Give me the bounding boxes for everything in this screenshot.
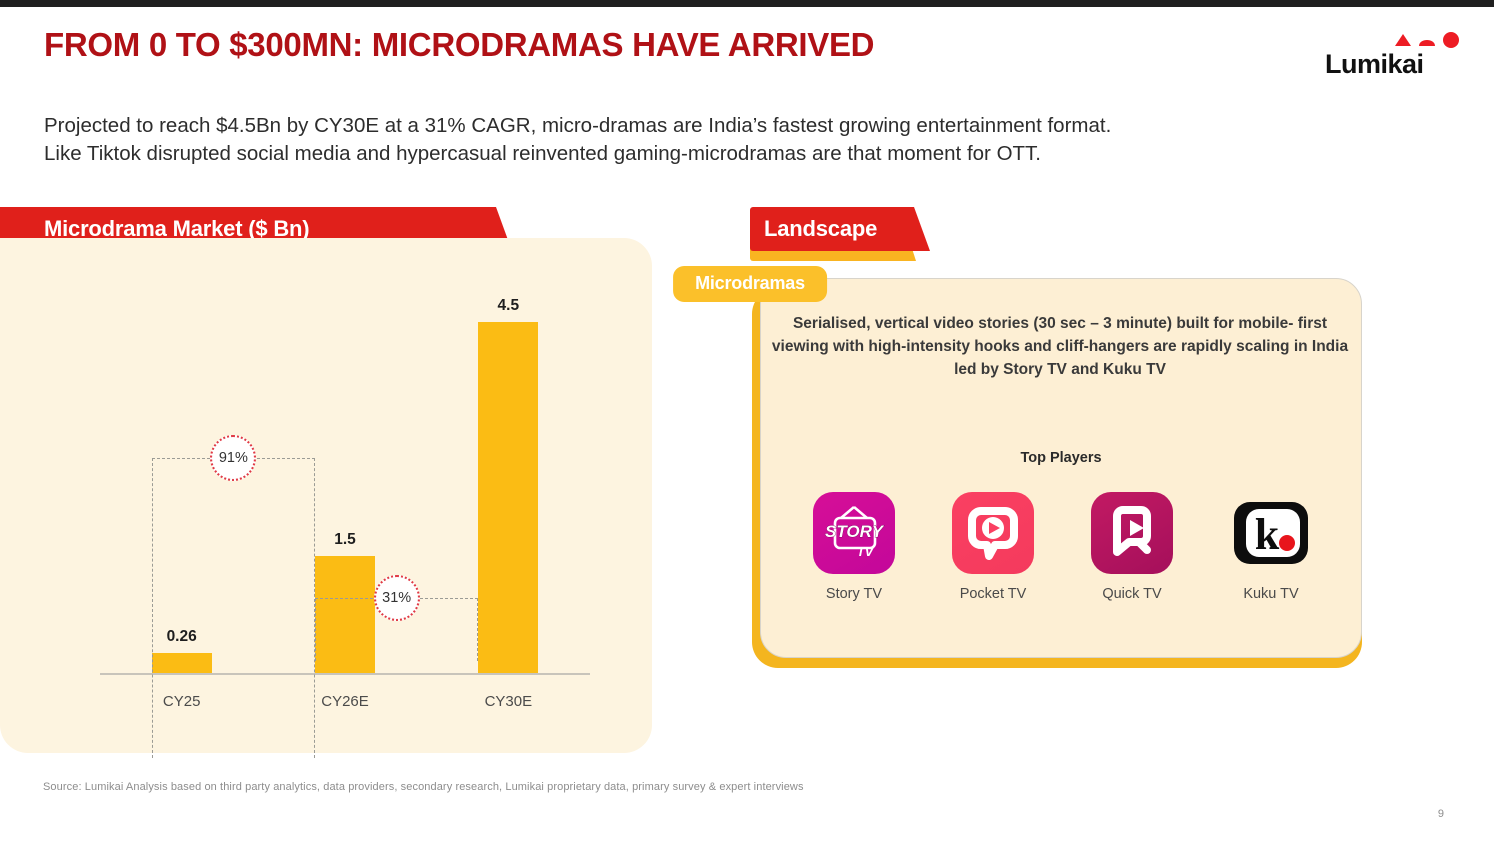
chart-bar-value-label: 4.5 xyxy=(463,297,553,315)
subtitle-line-2: Like Tiktok disrupted social media and h… xyxy=(44,140,1354,168)
kuku-tv-app-icon[interactable]: k xyxy=(1230,492,1312,574)
player-item[interactable]: Pocket TV xyxy=(929,492,1057,602)
svg-text:k: k xyxy=(1255,510,1280,559)
player-name-label: Pocket TV xyxy=(929,586,1057,602)
top-players-heading: Top Players xyxy=(760,450,1362,466)
subtitle-line-1: Projected to reach $4.5Bn by CY30E at a … xyxy=(44,112,1354,140)
banner-body: Landscape xyxy=(750,207,930,251)
player-item[interactable]: Quick TV xyxy=(1068,492,1196,602)
cagr-bracket xyxy=(152,458,315,758)
page-title: FROM 0 TO $300MN: MICRODRAMAS HAVE ARRIV… xyxy=(44,26,874,64)
market-chart-card: 0.26CY251.5CY26E4.5CY30E91%31% xyxy=(0,238,652,753)
chart-bar xyxy=(478,322,538,673)
lumikai-logo: Lumikai xyxy=(1325,28,1460,80)
quick-tv-app-icon[interactable] xyxy=(1091,492,1173,574)
top-players-row: STORYTVStory TVPocket TVQuick TVkKuku TV xyxy=(790,492,1335,602)
landscape-description: Serialised, vertical video stories (30 s… xyxy=(770,312,1350,381)
landscape-banner-label: Landscape xyxy=(764,216,877,242)
chart-x-tick-label: CY30E xyxy=(458,693,558,710)
story-tv-app-icon[interactable]: STORYTV xyxy=(813,492,895,574)
player-name-label: Quick TV xyxy=(1068,586,1196,602)
source-note: Source: Lumikai Analysis based on third … xyxy=(43,781,804,793)
cagr-value-bubble: 31% xyxy=(374,575,420,621)
player-name-label: Story TV xyxy=(790,586,918,602)
page-subtitle: Projected to reach $4.5Bn by CY30E at a … xyxy=(44,112,1354,168)
player-item[interactable]: kKuku TV xyxy=(1207,492,1335,602)
svg-text:STORY: STORY xyxy=(825,522,885,541)
top-border-strip xyxy=(0,0,1500,7)
logo-wordmark: Lumikai xyxy=(1325,49,1424,80)
cagr-value-bubble: 91% xyxy=(210,435,256,481)
svg-text:TV: TV xyxy=(857,544,875,559)
player-item[interactable]: STORYTVStory TV xyxy=(790,492,918,602)
right-border-strip xyxy=(1494,0,1500,853)
player-name-label: Kuku TV xyxy=(1207,586,1335,602)
page-number: 9 xyxy=(1438,808,1444,820)
pocket-tv-app-icon[interactable] xyxy=(952,492,1034,574)
slide: FROM 0 TO $300MN: MICRODRAMAS HAVE ARRIV… xyxy=(0,0,1500,853)
bar-chart: 0.26CY251.5CY26E4.5CY30E91%31% xyxy=(44,268,614,738)
microdramas-pill-badge: Microdramas xyxy=(673,266,827,302)
